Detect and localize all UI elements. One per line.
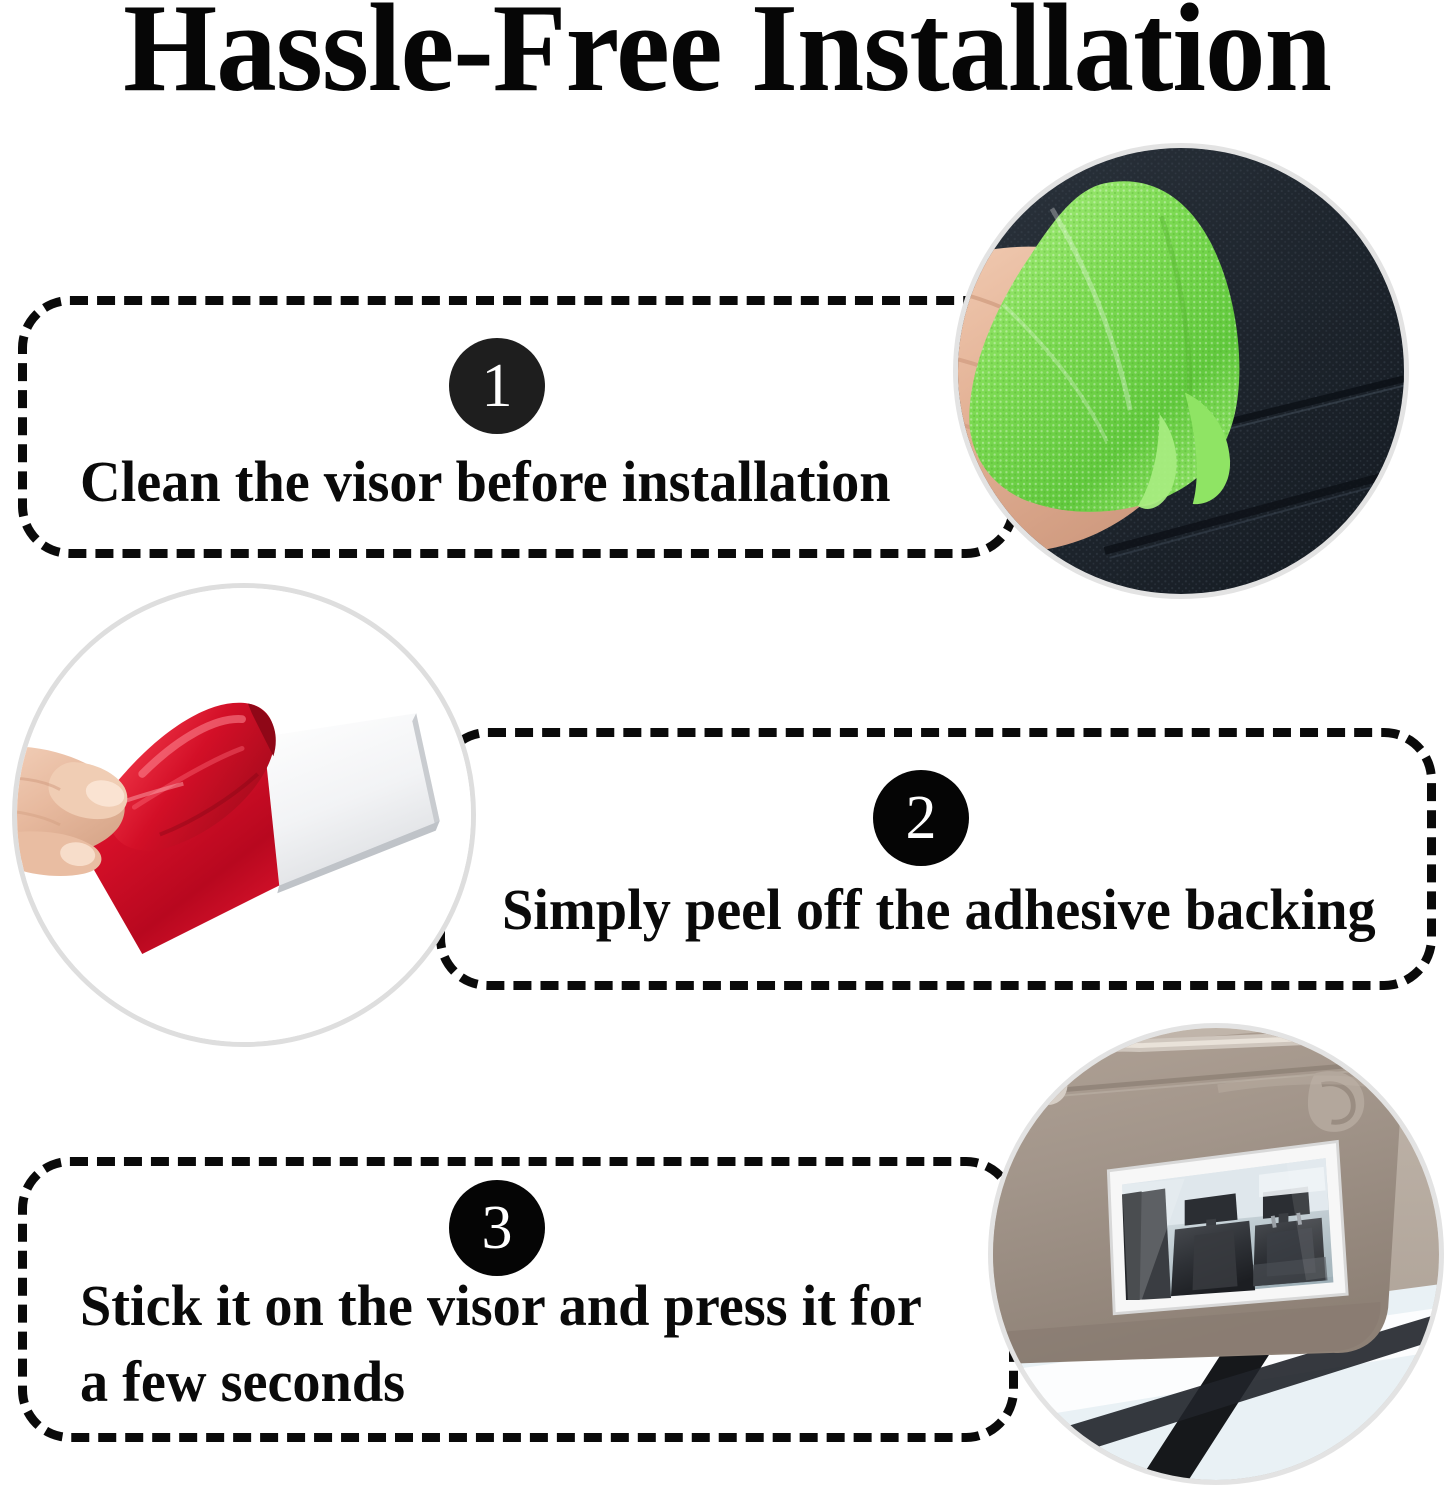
step-3-photo-installed-visor-mirror [988,1023,1444,1485]
step-2-number-badge: 2 [873,770,969,866]
step-2-caption: Simply peel off the adhesive backing [502,872,1376,948]
infographic-page: Hassle-Free Installation 1 Clean the vis… [0,0,1454,1500]
step-3-caption: Stick it on the visor and press it for a… [80,1268,922,1420]
peeling-adhesive-illustration [17,588,471,1042]
step-1-photo-cleaning-visor [953,143,1409,599]
installed-mirror-illustration [993,1028,1439,1480]
step-2-photo-peeling-backing [12,583,476,1047]
step-1-number-badge: 1 [449,338,545,434]
cleaning-visor-illustration [958,148,1404,594]
page-title: Hassle-Free Installation [29,0,1425,112]
step-1-caption: Clean the visor before installation [80,444,891,520]
step-3-number-badge: 3 [449,1180,545,1276]
